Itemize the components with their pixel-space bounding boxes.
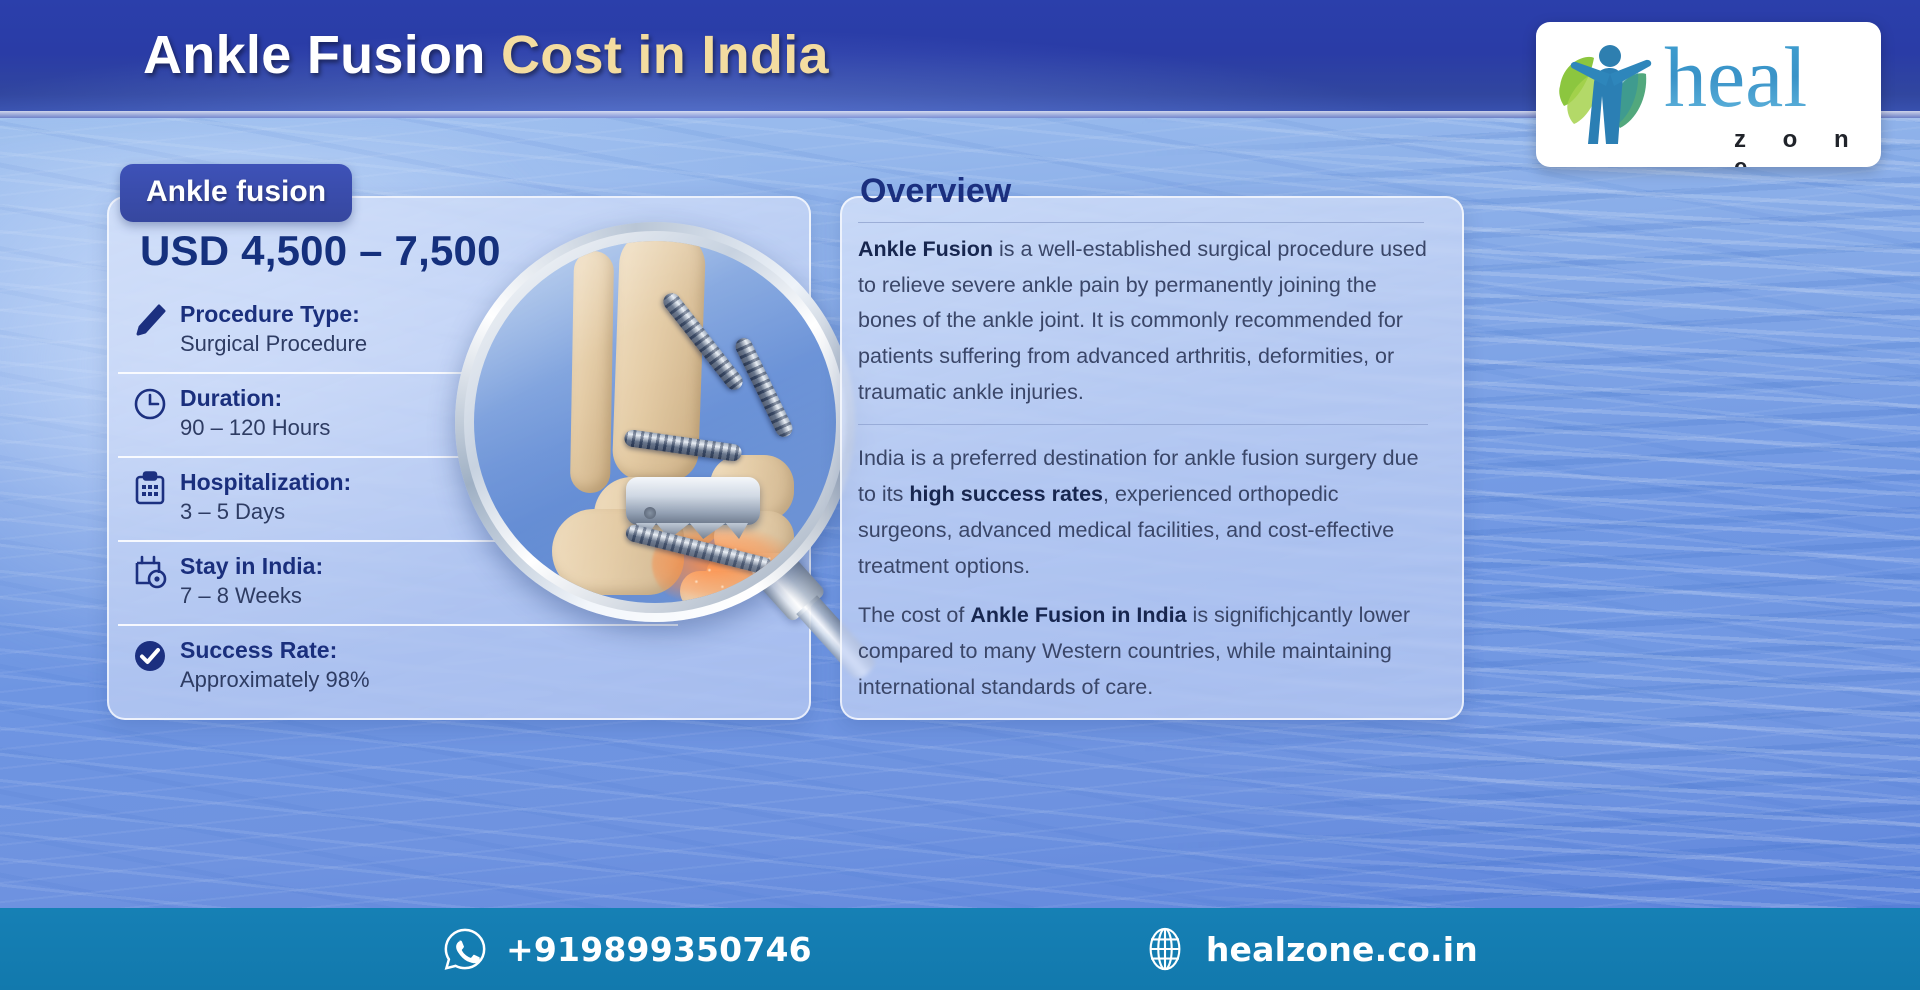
overview-paragraph-2: India is a preferred destination for ank… (858, 441, 1428, 584)
magnifier-lens (474, 241, 836, 603)
overview-body: Ankle Fusion is a well-established surgi… (858, 232, 1428, 719)
overview-p3-a: The cost of (858, 603, 970, 627)
calendar-icon (132, 554, 168, 590)
logo-wordmark: heal (1664, 34, 1807, 120)
logo-subword: z o n e (1734, 126, 1881, 167)
website-url: healzone.co.in (1206, 930, 1478, 969)
overview-title-rule (858, 222, 1424, 223)
brand-logo[interactable]: heal z o n e (1536, 22, 1881, 167)
overview-p2-bold: high success rates (909, 482, 1103, 506)
overview-title: Overview (860, 172, 1011, 211)
infographic-poster: Ankle Fusion Cost in India heal z o n e … (0, 0, 1920, 990)
overview-paragraph-3: The cost of Ankle Fusion in India is sig… (858, 598, 1428, 705)
clipboard-icon (132, 470, 168, 506)
globe-icon (1142, 926, 1188, 972)
phone-contact[interactable]: +919899350746 (442, 926, 812, 972)
overview-p1-rest: is a well-established surgical procedure… (858, 237, 1427, 404)
whatsapp-icon (442, 926, 488, 972)
procedure-name-badge: Ankle fusion (120, 164, 352, 222)
surgical-screw (733, 335, 796, 440)
page-title-accent: Cost in India (501, 25, 829, 85)
detail-row-success-rate: Success Rate: Approximately 98% (118, 624, 678, 708)
phone-number: +919899350746 (506, 930, 812, 969)
price-range: USD 4,500 – 7,500 (140, 227, 501, 275)
overview-p3-bold: Ankle Fusion in India (970, 603, 1186, 627)
contact-footer: +919899350746 healzone.co.in (0, 908, 1920, 990)
clock-icon (132, 386, 168, 422)
pen-icon (132, 302, 168, 338)
page-title-primary: Ankle Fusion (143, 25, 501, 85)
overview-paragraph-1: Ankle Fusion is a well-established surgi… (858, 232, 1428, 410)
fibula-bone (570, 251, 614, 494)
person-leaf-icon (1554, 40, 1664, 152)
detail-label: Success Rate: (180, 636, 678, 665)
fusion-implant-plate (626, 477, 760, 525)
overview-divider (858, 424, 1428, 425)
ankle-fusion-illustration (455, 222, 855, 622)
website-contact[interactable]: healzone.co.in (1142, 926, 1478, 972)
overview-p1-bold: Ankle Fusion (858, 237, 993, 261)
check-circle-icon (132, 638, 168, 674)
detail-value: Approximately 98% (180, 666, 678, 695)
page-title: Ankle Fusion Cost in India (143, 24, 829, 86)
